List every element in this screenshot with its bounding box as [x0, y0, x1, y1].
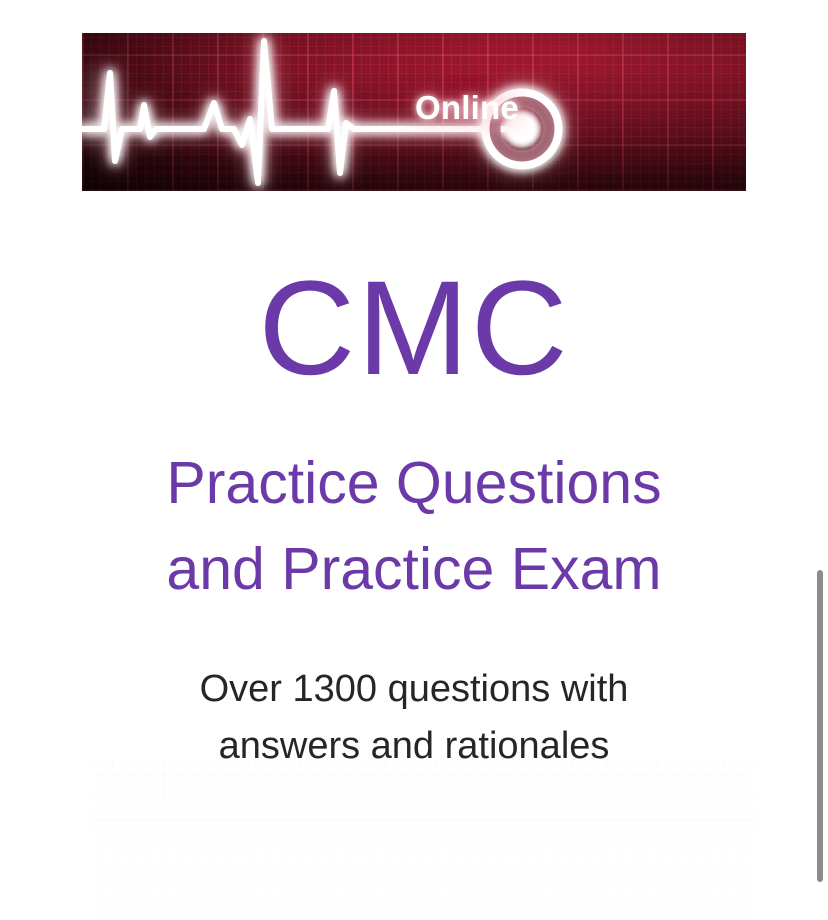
page-title: CMC [0, 262, 828, 396]
cover-blurb: Over 1300 questions with answers and rat… [0, 661, 828, 775]
vertical-scrollbar-thumb[interactable] [817, 570, 823, 882]
cover-subtitle-line-1: Practice Questions [0, 440, 828, 526]
page-background-texture-bottom [95, 760, 755, 920]
cover-blurb-line-2: answers and rationales [0, 718, 828, 775]
cover-subtitle: Practice Questions and Practice Exam [0, 440, 828, 612]
cover-subtitle-line-2: and Practice Exam [0, 526, 828, 612]
vertical-scrollbar-track[interactable] [814, 0, 828, 920]
banner-online-label: Online [415, 89, 519, 127]
heartbeat-icon [82, 33, 746, 191]
document-page: Online CMC Practice Questions and Practi… [0, 0, 828, 920]
cover-blurb-line-1: Over 1300 questions with [0, 661, 828, 718]
ecg-online-banner: Online [82, 33, 746, 191]
